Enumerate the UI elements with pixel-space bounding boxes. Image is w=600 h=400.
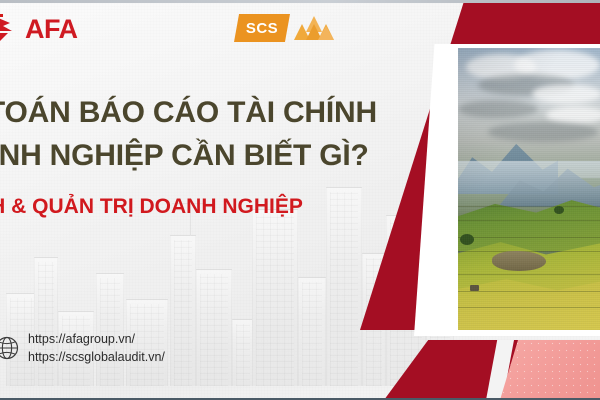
url-item-scsglobalaudit[interactable]: https://scsglobalaudit.vn/ <box>28 348 165 366</box>
url-list[interactable]: https://afagroup.vn/ https://scsglobalau… <box>28 330 165 366</box>
landscape-photo <box>458 48 600 330</box>
url-item-afagroup[interactable]: https://afagroup.vn/ <box>28 330 165 348</box>
scs-logo[interactable]: SCS <box>234 14 336 42</box>
website-links[interactable]: https://afagroup.vn/ https://scsglobalau… <box>0 330 165 366</box>
top-divider <box>0 0 600 3</box>
globe-icon <box>0 335 20 361</box>
scs-logo-plate: SCS <box>234 14 290 42</box>
photo-rock-outcrop <box>492 251 546 271</box>
headline-line-1: M TOÁN BÁO CÁO TÀI CHÍNH <box>0 92 424 135</box>
afa-arrow-icon <box>0 14 24 44</box>
banner-canvas: AFA SCS M TOÁN BÁO CÁO TÀI CHÍNH OANH NG… <box>0 0 600 400</box>
subheadline: HÍNH & QUẢN TRỊ DOANH NGHIỆP <box>0 193 424 220</box>
afa-logo[interactable]: AFA <box>0 14 78 44</box>
photo-hut <box>470 285 479 291</box>
headline-line-2: OANH NGHIỆP CẦN BIẾT GÌ? <box>0 135 424 178</box>
headline: M TOÁN BÁO CÁO TÀI CHÍNH OANH NGHIỆP CẦN… <box>0 92 424 177</box>
scs-logo-text: SCS <box>246 20 278 37</box>
scs-triangle-icon <box>292 14 336 42</box>
afa-logo-text: AFA <box>25 16 78 43</box>
